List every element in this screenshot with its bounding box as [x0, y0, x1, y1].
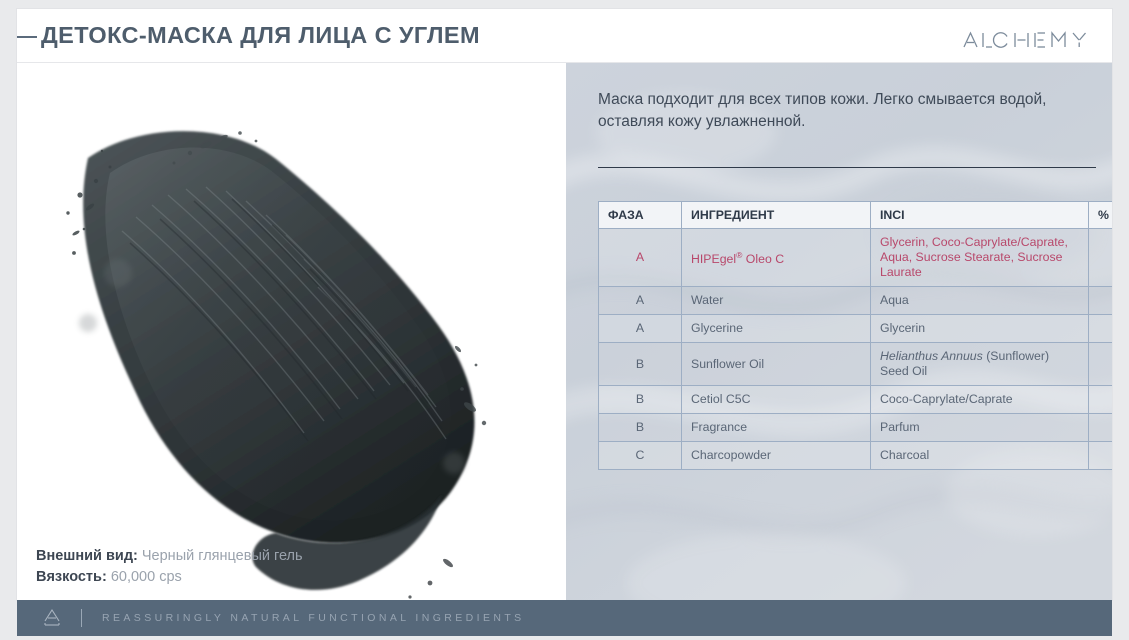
slide-header: ДЕТОКС-МАСКА ДЛЯ ЛИЦА С УГЛЕМ: [17, 9, 1112, 63]
cell-inci: Glycerin, Coco-Caprylate/Caprate, Aqua, …: [871, 229, 1089, 287]
cell-ingredient: HIPEgel® Oleo C: [682, 229, 871, 287]
cell-percent: 0.50: [1089, 414, 1113, 442]
table-header-row: ФАЗА ИНГРЕДИЕНТ INCI % W/W: [599, 202, 1113, 229]
cell-percent: 42.00: [1089, 386, 1113, 414]
appearance-label: Внешний вид:: [36, 548, 138, 564]
cell-phase: C: [599, 442, 682, 470]
viscosity-label: Вязкость:: [36, 569, 107, 585]
table-row: A Water Aqua 1.50: [599, 287, 1113, 315]
table-row: B Cetiol C5C Coco-Caprylate/Caprate 42.0…: [599, 386, 1113, 414]
formulation-table: ФАЗА ИНГРЕДИЕНТ INCI % W/W A HIPEgel® Ol…: [598, 201, 1112, 470]
footer-tagline: REASSURINGLY NATURAL FUNCTIONAL INGREDIE…: [102, 612, 525, 624]
column-header-ingredient: ИНГРЕДИЕНТ: [682, 202, 871, 229]
cell-ingredient: Glycerine: [682, 315, 871, 343]
cell-phase: A: [599, 229, 682, 287]
cell-percent: 0.50: [1089, 442, 1113, 470]
cell-phase: B: [599, 343, 682, 386]
slide-footer: REASSURINGLY NATURAL FUNCTIONAL INGREDIE…: [17, 600, 1112, 636]
product-specs: Внешний вид: Черный глянцевый гель Вязко…: [36, 546, 303, 588]
column-header-inci: INCI: [871, 202, 1089, 229]
footer-divider: [81, 609, 82, 627]
cell-percent: 7.50: [1089, 315, 1113, 343]
cell-inci: Charcoal: [871, 442, 1089, 470]
cell-ingredient: Charcopowder: [682, 442, 871, 470]
alchemy-a-monogram-icon: [39, 606, 65, 630]
cell-ingredient: Water: [682, 287, 871, 315]
panel-description: Маска подходит для всех типов кожи. Легк…: [598, 89, 1058, 133]
column-header-phase: ФАЗА: [599, 202, 682, 229]
cell-percent: 42.00: [1089, 343, 1113, 386]
cell-percent: 6.00: [1089, 229, 1113, 287]
table-row: B Fragrance Parfum 0.50: [599, 414, 1113, 442]
cell-phase: B: [599, 414, 682, 442]
viscosity-value: 60,000 cps: [111, 569, 182, 585]
cell-inci: Parfum: [871, 414, 1089, 442]
product-photo: [18, 63, 566, 600]
alchemy-logo: [962, 27, 1094, 53]
dash-icon: [17, 36, 37, 38]
table-row: A HIPEgel® Oleo C Glycerin, Coco-Capryla…: [599, 229, 1113, 287]
ingredient-suffix: Oleo C: [742, 252, 784, 266]
table-row: A Glycerine Glycerin 7.50: [599, 315, 1113, 343]
cell-phase: B: [599, 386, 682, 414]
page-title: ДЕТОКС-МАСКА ДЛЯ ЛИЦА С УГЛЕМ: [41, 22, 480, 49]
panel-divider: [598, 167, 1096, 168]
inci-latin-name: Helianthus Annuus: [880, 349, 983, 363]
cell-inci: Coco-Caprylate/Caprate: [871, 386, 1089, 414]
cell-ingredient: Fragrance: [682, 414, 871, 442]
slide: ДЕТОКС-МАСКА ДЛЯ ЛИЦА С УГЛЕМ: [0, 0, 1129, 640]
appearance-value: Черный глянцевый гель: [142, 548, 303, 564]
table-row: B Sunflower Oil Helianthus Annuus (Sunfl…: [599, 343, 1113, 386]
cell-inci: Glycerin: [871, 315, 1089, 343]
cell-percent: 1.50: [1089, 287, 1113, 315]
column-header-percent: % W/W: [1089, 202, 1113, 229]
ingredient-name: HIPEgel: [691, 252, 736, 266]
cell-phase: A: [599, 287, 682, 315]
cell-inci: Helianthus Annuus (Sunflower) Seed Oil: [871, 343, 1089, 386]
info-panel: Маска подходит для всех типов кожи. Легк…: [566, 63, 1112, 600]
cell-ingredient: Sunflower Oil: [682, 343, 871, 386]
cell-ingredient: Cetiol C5C: [682, 386, 871, 414]
viscosity-line: Вязкость: 60,000 cps: [36, 567, 303, 588]
table-row: C Charcopowder Charcoal 0.50: [599, 442, 1113, 470]
appearance-line: Внешний вид: Черный глянцевый гель: [36, 546, 303, 567]
cell-inci: Aqua: [871, 287, 1089, 315]
cell-phase: A: [599, 315, 682, 343]
